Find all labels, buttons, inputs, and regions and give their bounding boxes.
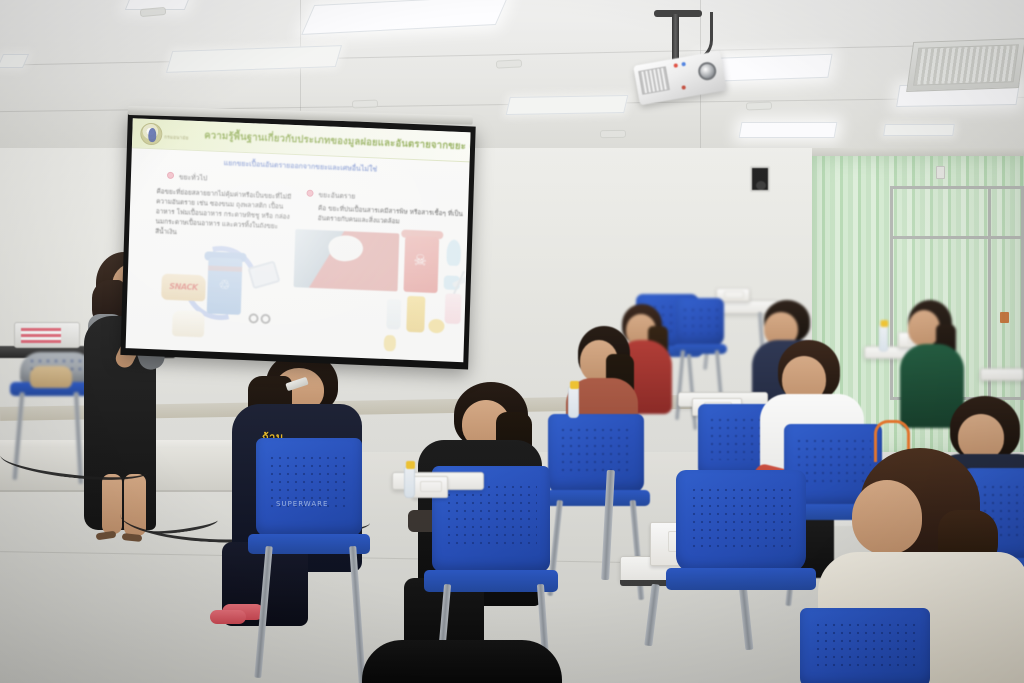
snack-wrapper-art: SNACK xyxy=(161,274,206,302)
left-bullet-label: ขยะทั่วไป xyxy=(179,171,208,183)
student-desk xyxy=(980,368,1024,381)
chemical-can-icon xyxy=(428,319,444,334)
ceiling-light xyxy=(506,95,629,115)
ceiling-light xyxy=(739,122,838,138)
smoke-detector xyxy=(352,100,378,109)
storage-basket xyxy=(14,322,80,348)
projector-power-led xyxy=(673,63,678,68)
spray-bottle-icon xyxy=(386,299,401,330)
bin-band xyxy=(208,265,242,271)
attendee-head xyxy=(852,480,922,554)
wall-speaker xyxy=(750,166,770,192)
bullet-dot-icon xyxy=(306,190,313,197)
styrofoam-lunch-box xyxy=(412,476,448,498)
red-hazard-bin: ☠ xyxy=(403,236,439,293)
foam-container-art xyxy=(172,310,205,337)
beige-handbag xyxy=(30,366,72,388)
projector-lens xyxy=(697,61,718,82)
projector-status-led xyxy=(681,62,686,67)
smoke-detector xyxy=(496,59,522,68)
pink-bottle-icon xyxy=(445,293,462,324)
wall-switch-plate xyxy=(936,166,945,179)
window-latch xyxy=(1000,312,1009,323)
hazardous-waste-illustration: ☠ xyxy=(291,229,463,362)
presentation-slide: กรมอนามัย ความรู้พื้นฐานเกี่ยวกับประเภทข… xyxy=(126,118,471,362)
projection-screen[interactable]: กรมอนามัย ความรู้พื้นฐานเกี่ยวกับประเภทข… xyxy=(120,112,475,369)
attendee-sandal xyxy=(210,610,246,624)
projector-lamp-led xyxy=(681,85,686,90)
left-body-text: คือขยะที่ย่อยสลายยากไม่คุ้มค่าหรือเป็นขย… xyxy=(155,187,296,242)
slide-logo-caption: กรมอนามัย xyxy=(164,134,189,142)
blue-trash-bin: ♲ xyxy=(207,257,243,314)
window-mullion xyxy=(890,236,1024,239)
small-container-icon xyxy=(384,335,396,351)
basket-label xyxy=(21,328,61,343)
water-bottle xyxy=(879,324,888,351)
foreground-shoulder xyxy=(362,640,562,683)
recycling-illustration: ♲ SNACK xyxy=(160,240,283,345)
ceiling-light xyxy=(883,124,955,136)
ac-vent xyxy=(906,38,1024,92)
hazard-photo xyxy=(294,229,400,291)
chemical-bottle-icon xyxy=(406,296,425,333)
water-bottle xyxy=(404,466,415,498)
throw-trash-icon: ♲ xyxy=(218,278,231,296)
smoke-detector xyxy=(600,130,626,138)
white-waste-bag xyxy=(326,232,365,264)
blue-glove-icon xyxy=(446,239,461,266)
presenter-left-leg xyxy=(102,474,122,534)
bullet-dot-icon xyxy=(167,172,174,179)
spectacles-art xyxy=(248,311,274,326)
skull-crossbones-icon: ☠ xyxy=(413,252,429,269)
projector-vent-grill xyxy=(638,66,670,94)
chair-brand-label: SUPERWARE xyxy=(276,500,328,508)
smoke-detector xyxy=(746,102,772,111)
right-body-text: คือ ขยะที่ปนเปื้อนสารเคมีสารพิษ หรือสารเ… xyxy=(318,204,467,230)
ac-vent-louvers xyxy=(913,44,1019,85)
water-bottle xyxy=(568,386,579,418)
classroom-photo-scene: กรมอนามัย ความรู้พื้นฐานเกี่ยวกับประเภทข… xyxy=(0,0,1024,683)
right-bullet-label: ขยะอันตราย xyxy=(318,189,355,202)
